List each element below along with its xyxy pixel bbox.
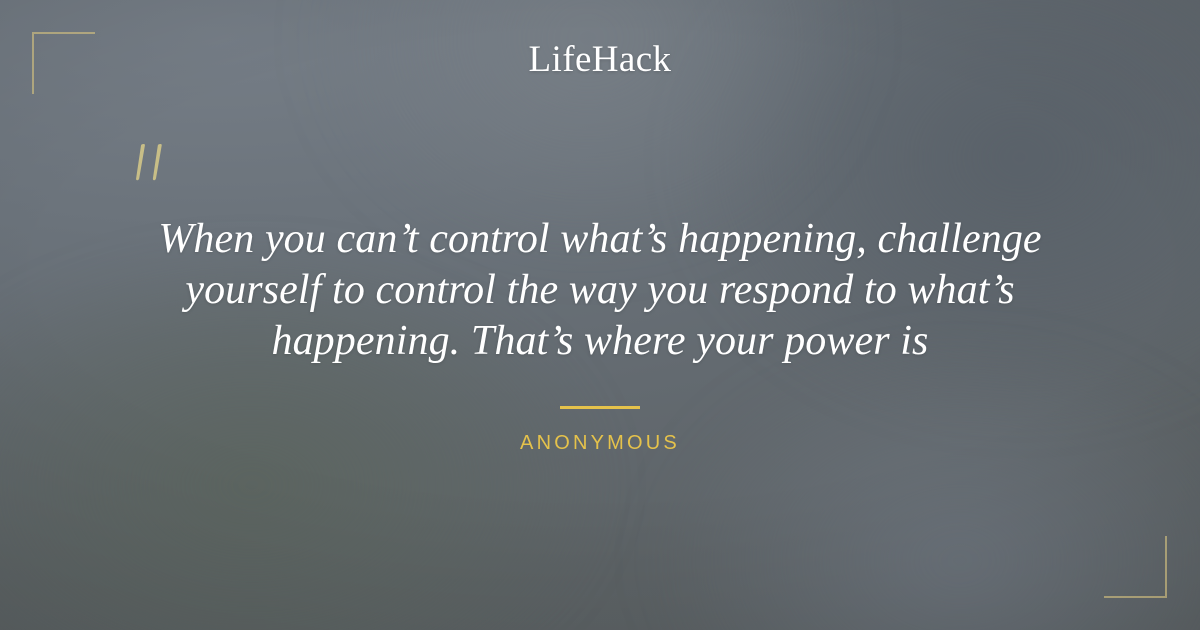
corner-bracket-bottom-right-icon: [1104, 536, 1167, 598]
brand-logo: LifeHack: [0, 40, 1200, 81]
attribution-divider: [560, 406, 640, 409]
quotation-mark-icon: [131, 142, 175, 190]
quote-text: When you can’t control what’s happening,…: [100, 214, 1100, 367]
quote-card: LifeHack When you can’t control what’s h…: [0, 0, 1200, 630]
attribution-block: ANONYMOUS: [0, 406, 1200, 453]
quote-author: ANONYMOUS: [0, 433, 1200, 453]
quote-block: When you can’t control what’s happening,…: [0, 214, 1200, 367]
